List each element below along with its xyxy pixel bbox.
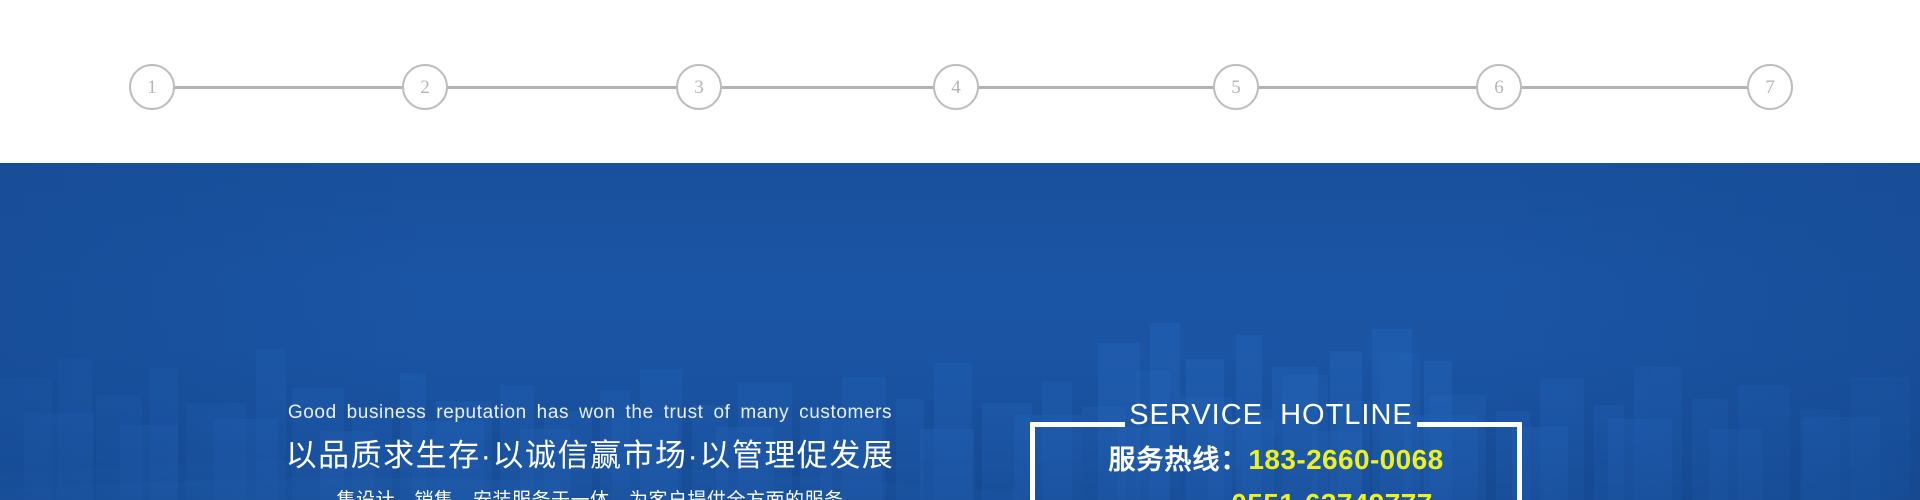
hotline-primary-row: 服务热线：183-2660-0068 [1030,446,1522,474]
blue-banner: Good business reputation has won the tru… [0,163,1920,500]
step-node-6[interactable]: 6 [1476,64,1522,110]
step-node-label: 2 [420,78,430,97]
slogan-chinese-headline: 以品质求生存·以诚信赢市场·以管理促发展 [240,440,940,471]
service-hotline-box: SERVICE HOTLINE 服务热线：183-2660-0068 0551-… [1030,422,1522,500]
step-node-label: 5 [1231,78,1241,97]
step-node-label: 6 [1494,78,1504,97]
step-node-4[interactable]: 4 [933,64,979,110]
hotline-label: 服务热线： [1108,445,1248,475]
step-node-label: 3 [694,78,704,97]
step-node-label: 7 [1765,78,1775,97]
step-node-label: 1 [147,78,157,97]
step-node-1[interactable]: 1 [129,64,175,110]
hotline-secondary-row: 0551-63749777 [1030,490,1522,500]
step-node-2[interactable]: 2 [402,64,448,110]
slogan-chinese-subtext: 集设计、销售、安装服务于一体，为客户提供全方面的服务 [240,491,940,500]
hotline-phone-secondary[interactable]: 0551-63749777 [1231,488,1432,500]
slogan-english-text: Good business reputation has won the tru… [240,403,940,422]
step-node-label: 4 [951,78,961,97]
hotline-frame-top-left [1030,422,1125,427]
page-root: 1 2 3 4 5 6 7 [0,0,1920,500]
step-node-5[interactable]: 5 [1213,64,1259,110]
step-node-7[interactable]: 7 [1747,64,1793,110]
hotline-frame-top-right [1417,422,1522,427]
slogan-block: Good business reputation has won the tru… [240,403,940,500]
step-progress-bar: 1 2 3 4 5 6 7 [0,0,1920,163]
step-node-3[interactable]: 3 [676,64,722,110]
hotline-phone-primary[interactable]: 183-2660-0068 [1248,444,1443,475]
hotline-title: SERVICE HOTLINE [1125,401,1417,430]
